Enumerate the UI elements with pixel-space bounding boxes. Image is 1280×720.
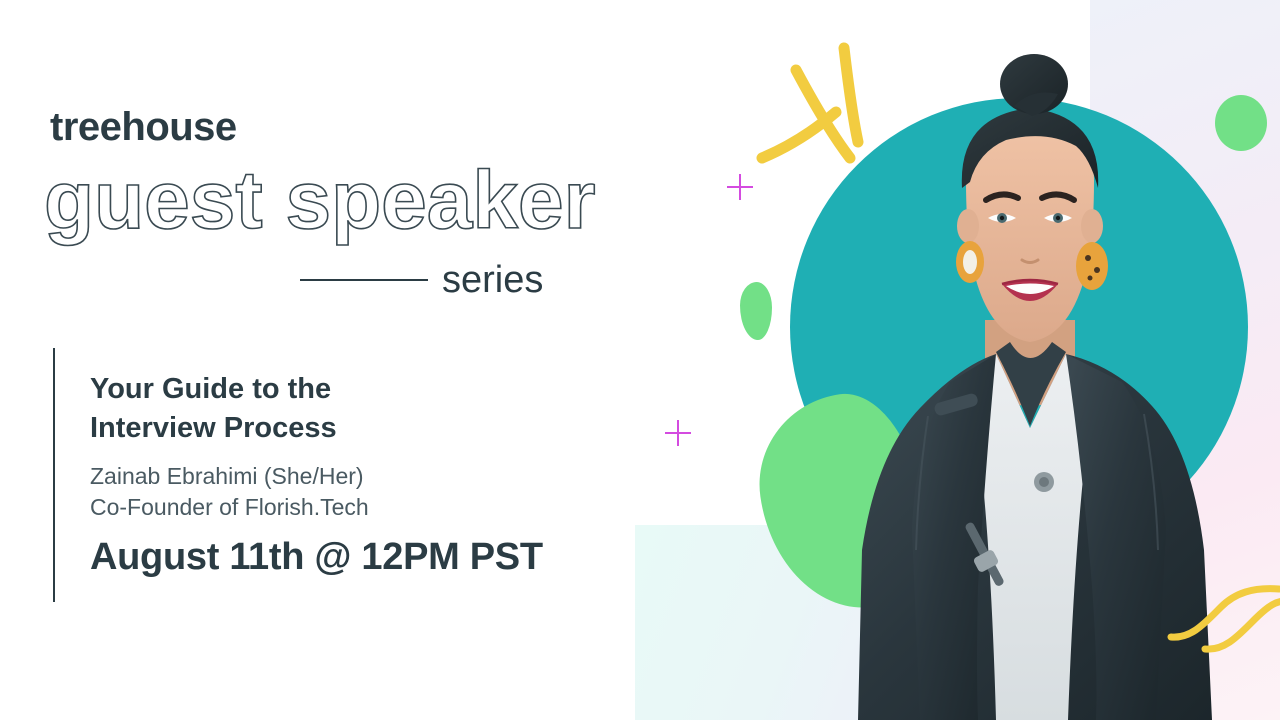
series-row: series: [300, 258, 630, 302]
wavy-lines-icon: [1165, 575, 1280, 665]
talk-title: Your Guide to the Interview Process: [90, 370, 337, 447]
plus-mark-icon: [665, 420, 691, 446]
talk-title-line-1: Your Guide to the: [90, 370, 337, 409]
organic-blob-icon: [740, 282, 772, 340]
speaker-name: Zainab Ebrahimi (She/Her): [90, 461, 364, 492]
series-label: series: [442, 261, 543, 299]
event-datetime: August 11th @ 12PM PST: [90, 535, 543, 581]
speaker-role: Co-Founder of Florish.Tech: [90, 492, 369, 523]
plus-mark-icon: [727, 174, 753, 200]
content-column: treehouse guest speaker series Your Guid…: [0, 0, 660, 720]
series-divider: [300, 279, 428, 281]
brand-wordmark: treehouse: [50, 107, 237, 147]
talk-title-line-2: Interview Process: [90, 409, 337, 448]
guest-speaker-promo-slide: treehouse guest speaker series Your Guid…: [0, 0, 1280, 720]
vertical-divider: [53, 348, 55, 602]
page-title: guest speaker: [44, 160, 596, 242]
